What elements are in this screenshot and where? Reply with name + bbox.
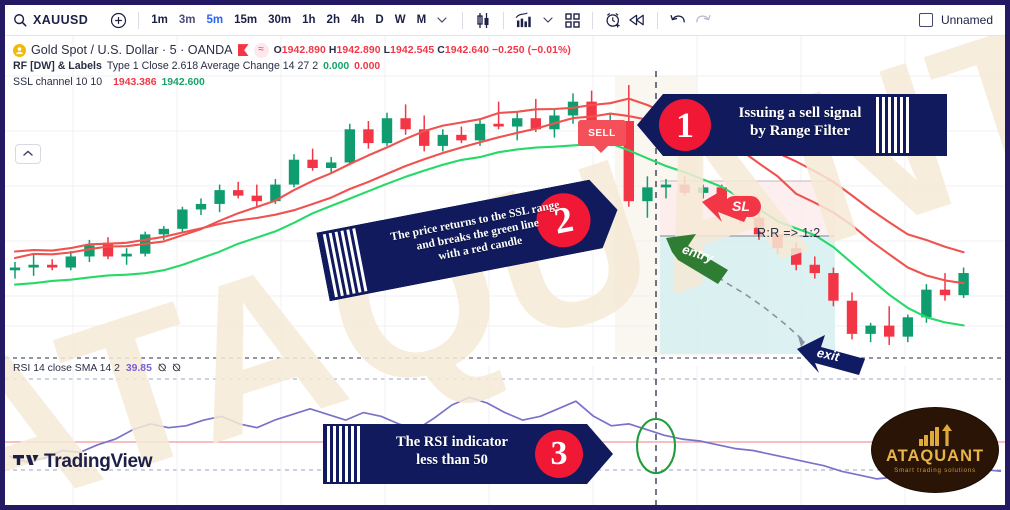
callout-3-number: 3 (535, 430, 583, 478)
callout-3-line1: The RSI indicator (369, 434, 535, 452)
symbol-search-button[interactable]: XAUUSD (13, 13, 88, 27)
rsi-legend: RSI 14 close SMA 14 2 39.85 ⦰ ⦰ (13, 363, 181, 375)
redo-button[interactable] (690, 9, 714, 31)
toolbar-divider-2 (462, 12, 463, 29)
callout-1-line2: by Range Filter (725, 122, 875, 140)
toolbar-divider-5 (657, 12, 658, 29)
chevron-down-icon (542, 14, 554, 26)
tradingview-window: XAUUSD 1m3m5m15m30m1h2h4hDWM (0, 0, 1010, 510)
collapse-legend-button[interactable] (15, 144, 41, 164)
tradingview-logo-icon (13, 452, 39, 473)
rsi-extra-1: ⦰ (158, 363, 166, 375)
timeframe-1h[interactable]: 1h (298, 12, 319, 28)
tradingview-label: TradingView (44, 451, 152, 473)
indicators-icon (515, 12, 534, 29)
empty-square-icon[interactable] (919, 13, 933, 27)
callout-3-stripes (327, 426, 360, 482)
indicators-button[interactable] (512, 9, 536, 31)
timeframe-3m[interactable]: 3m (175, 12, 200, 28)
replay-button[interactable] (625, 9, 649, 31)
add-symbol-button[interactable] (106, 9, 130, 31)
layout-name-label: Unnamed (941, 13, 993, 27)
ataquant-logo: ATAQUANT Smart trading solutions (871, 407, 999, 493)
timeframe-1m[interactable]: 1m (147, 12, 172, 28)
entry-marker: entry (662, 232, 738, 291)
timeframe-5m[interactable]: 5m (202, 12, 227, 28)
sl-label: SL (724, 196, 761, 217)
callout-3-line2: less than 50 (369, 452, 535, 470)
templates-button[interactable] (560, 9, 584, 31)
logo-name: ATAQUANT (886, 448, 984, 465)
rsi-indicator-name: RSI 14 close SMA 14 2 (13, 363, 120, 374)
chart-area[interactable]: ATAQUANT (5, 36, 1005, 505)
toolbar-divider-1 (138, 12, 139, 29)
search-icon (13, 13, 27, 27)
timeframe-30m[interactable]: 30m (264, 12, 295, 28)
callout-1-number: 1 (659, 99, 711, 151)
stop-loss-marker: SL (700, 186, 770, 237)
callout-1-line1: Issuing a sell signal (725, 104, 875, 122)
timeframe-D[interactable]: D (371, 12, 387, 28)
chevron-down-icon (436, 14, 448, 26)
toolbar-divider-4 (592, 12, 593, 29)
callout-3-text: The RSI indicator less than 50 (369, 434, 535, 469)
rsi-current-value: 39.85 (126, 363, 152, 374)
more-timeframes-button[interactable] (430, 9, 454, 31)
timeframe-15m[interactable]: 15m (230, 12, 261, 28)
callout-1-text: Issuing a sell signal by Range Filter (725, 104, 875, 141)
undo-button[interactable] (666, 9, 690, 31)
sell-signal-label: SELL (578, 120, 626, 146)
timeframe-M[interactable]: M (413, 12, 431, 28)
toolbar-divider-3 (503, 12, 504, 29)
grid-squares-icon (565, 13, 580, 28)
plus-circle-icon (110, 12, 127, 29)
tradingview-watermark: TradingView (13, 451, 152, 473)
undo-arrow-icon (670, 13, 687, 27)
redo-arrow-icon (694, 13, 711, 27)
indicators-caret-button[interactable] (536, 9, 560, 31)
replay-rewind-icon (629, 13, 646, 27)
timeframe-4h[interactable]: 4h (347, 12, 368, 28)
bar-chart-up-icon (919, 426, 952, 446)
alarm-clock-plus-icon (605, 12, 622, 29)
candlestick-icon (475, 12, 491, 29)
layout-name-group[interactable]: Unnamed (919, 13, 997, 27)
callout-1-stripes (876, 97, 909, 153)
timeframe-2h[interactable]: 2h (323, 12, 344, 28)
exit-marker: exit (795, 333, 875, 390)
callout-1: 1 Issuing a sell signal by Range Filter (637, 94, 947, 156)
timeframe-W[interactable]: W (391, 12, 410, 28)
alert-button[interactable] (601, 9, 625, 31)
rsi-extra-2: ⦰ (172, 363, 180, 375)
chevron-up-icon (22, 145, 34, 163)
callout-3: 3 The RSI indicator less than 50 (323, 424, 613, 484)
timeframe-group: 1m3m5m15m30m1h2h4hDWM (147, 12, 430, 28)
top-toolbar: XAUUSD 1m3m5m15m30m1h2h4hDWM (5, 5, 1005, 36)
symbol-label: XAUUSD (33, 13, 88, 27)
candle-type-button[interactable] (471, 9, 495, 31)
logo-tagline: Smart trading solutions (894, 467, 976, 474)
